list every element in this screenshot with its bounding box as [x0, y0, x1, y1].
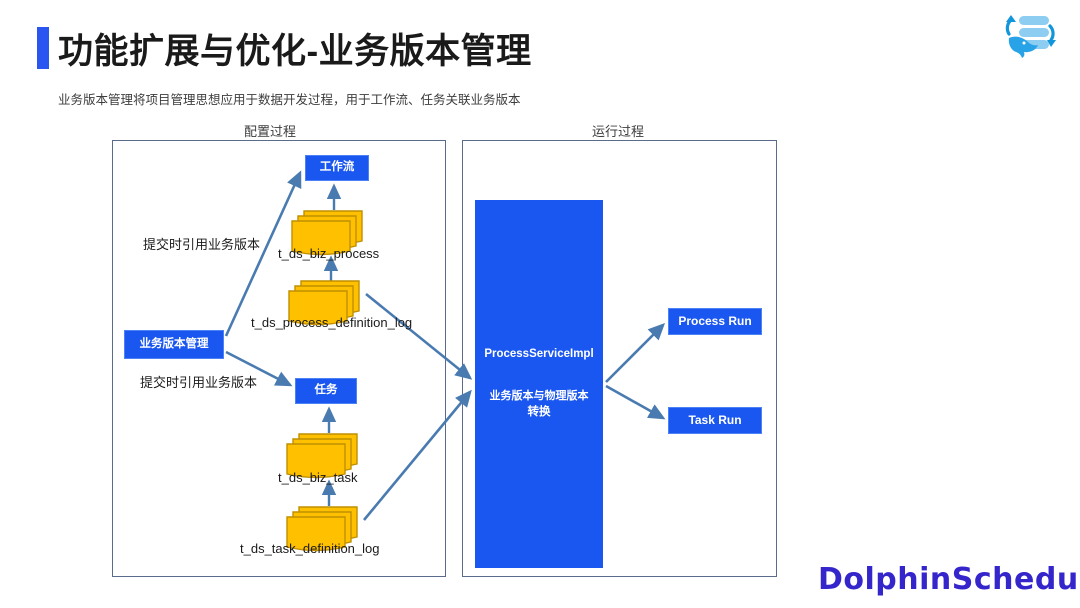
box-task[interactable]: 任务	[295, 378, 357, 404]
box-task-run[interactable]: Task Run	[668, 407, 762, 434]
table-label-task-definition-log: t_ds_task_definition_log	[240, 541, 380, 556]
dolphin-database-logo-icon	[995, 8, 1063, 58]
table-label-process-definition-log: t_ds_process_definition_log	[251, 315, 412, 330]
service-subtitle-line2: 转换	[528, 405, 551, 421]
page-subtitle: 业务版本管理将项目管理思想应用于数据开发过程，用于工作流、任务关联业务版本	[58, 89, 521, 108]
box-process-run[interactable]: Process Run	[668, 308, 762, 335]
edge-label-workflow-reference: 提交时引用业务版本	[143, 234, 260, 253]
box-workflow[interactable]: 工作流	[305, 155, 369, 181]
title-accent-bar	[37, 27, 49, 69]
table-label-biz-process: t_ds_biz_process	[278, 246, 379, 261]
panel-header-runtime: 运行过程	[592, 121, 644, 140]
edge-label-task-reference: 提交时引用业务版本	[140, 372, 257, 391]
brand-wordmark: DolphinScheduler	[818, 562, 1080, 597]
box-business-version-management[interactable]: 业务版本管理	[124, 330, 224, 359]
service-subtitle-line1: 业务版本与物理版本	[490, 387, 589, 406]
page-title: 功能扩展与优化-业务版本管理	[58, 23, 532, 74]
table-label-biz-task: t_ds_biz_task	[278, 470, 358, 485]
panel-header-config: 配置过程	[244, 121, 296, 140]
box-process-service-impl[interactable]: ProcessServiceImpl 业务版本与物理版本 转换	[475, 200, 603, 568]
service-title: ProcessServiceImpl	[484, 347, 593, 363]
